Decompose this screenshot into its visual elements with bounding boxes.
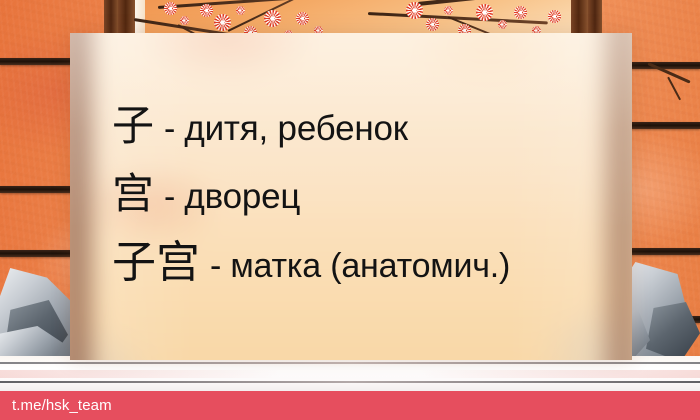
blossom-icon: [214, 14, 231, 31]
blossom-icon: [426, 18, 439, 31]
blossom-icon: [444, 6, 453, 15]
blossom-icon: [180, 16, 189, 25]
vocabulary-list: 子 - дитя, ребенок 宫 - дворец 子宫 - матка …: [112, 33, 622, 360]
branch-icon: [418, 0, 568, 6]
entry-separator: -: [200, 249, 230, 283]
hanzi-character: 子: [112, 105, 154, 147]
vocabulary-entry: 宫 - дворец: [112, 173, 622, 215]
footer-bar: t.me/hsk_team: [0, 391, 700, 420]
entry-separator: -: [154, 180, 184, 214]
blossom-icon: [476, 4, 493, 21]
shelf-line-upper: [0, 362, 700, 364]
entry-translation: матка (анатомич.): [230, 249, 510, 283]
shelf-line-lower: [0, 381, 700, 383]
blossom-icon: [236, 6, 245, 15]
blossom-icon: [498, 20, 507, 29]
blossom-icon: [296, 12, 309, 25]
blossom-icon: [164, 2, 177, 15]
hanzi-character: 宫: [112, 173, 154, 215]
vocabulary-card: 子 - дитя, ребенок 宫 - дворец 子宫 - матка …: [70, 33, 632, 360]
shelf-tint: [0, 370, 700, 378]
blossom-icon: [200, 4, 213, 17]
entry-translation: дворец: [184, 179, 300, 214]
flashcard-image: 子 - дитя, ребенок 宫 - дворец 子宫 - матка …: [0, 0, 700, 420]
telegram-channel-link[interactable]: t.me/hsk_team: [0, 397, 112, 414]
vocabulary-entry: 子 - дитя, ребенок: [112, 105, 622, 147]
blossom-icon: [514, 6, 527, 19]
entry-translation: дитя, ребенок: [184, 111, 408, 146]
entry-separator: -: [154, 112, 184, 146]
vocabulary-entry: 子宫 - матка (анатомич.): [112, 241, 622, 285]
blossom-icon: [264, 10, 281, 27]
hanzi-character: 子宫: [112, 241, 200, 285]
blossom-icon: [548, 10, 561, 23]
branch-icon: [158, 0, 368, 9]
blossom-icon: [406, 2, 423, 19]
